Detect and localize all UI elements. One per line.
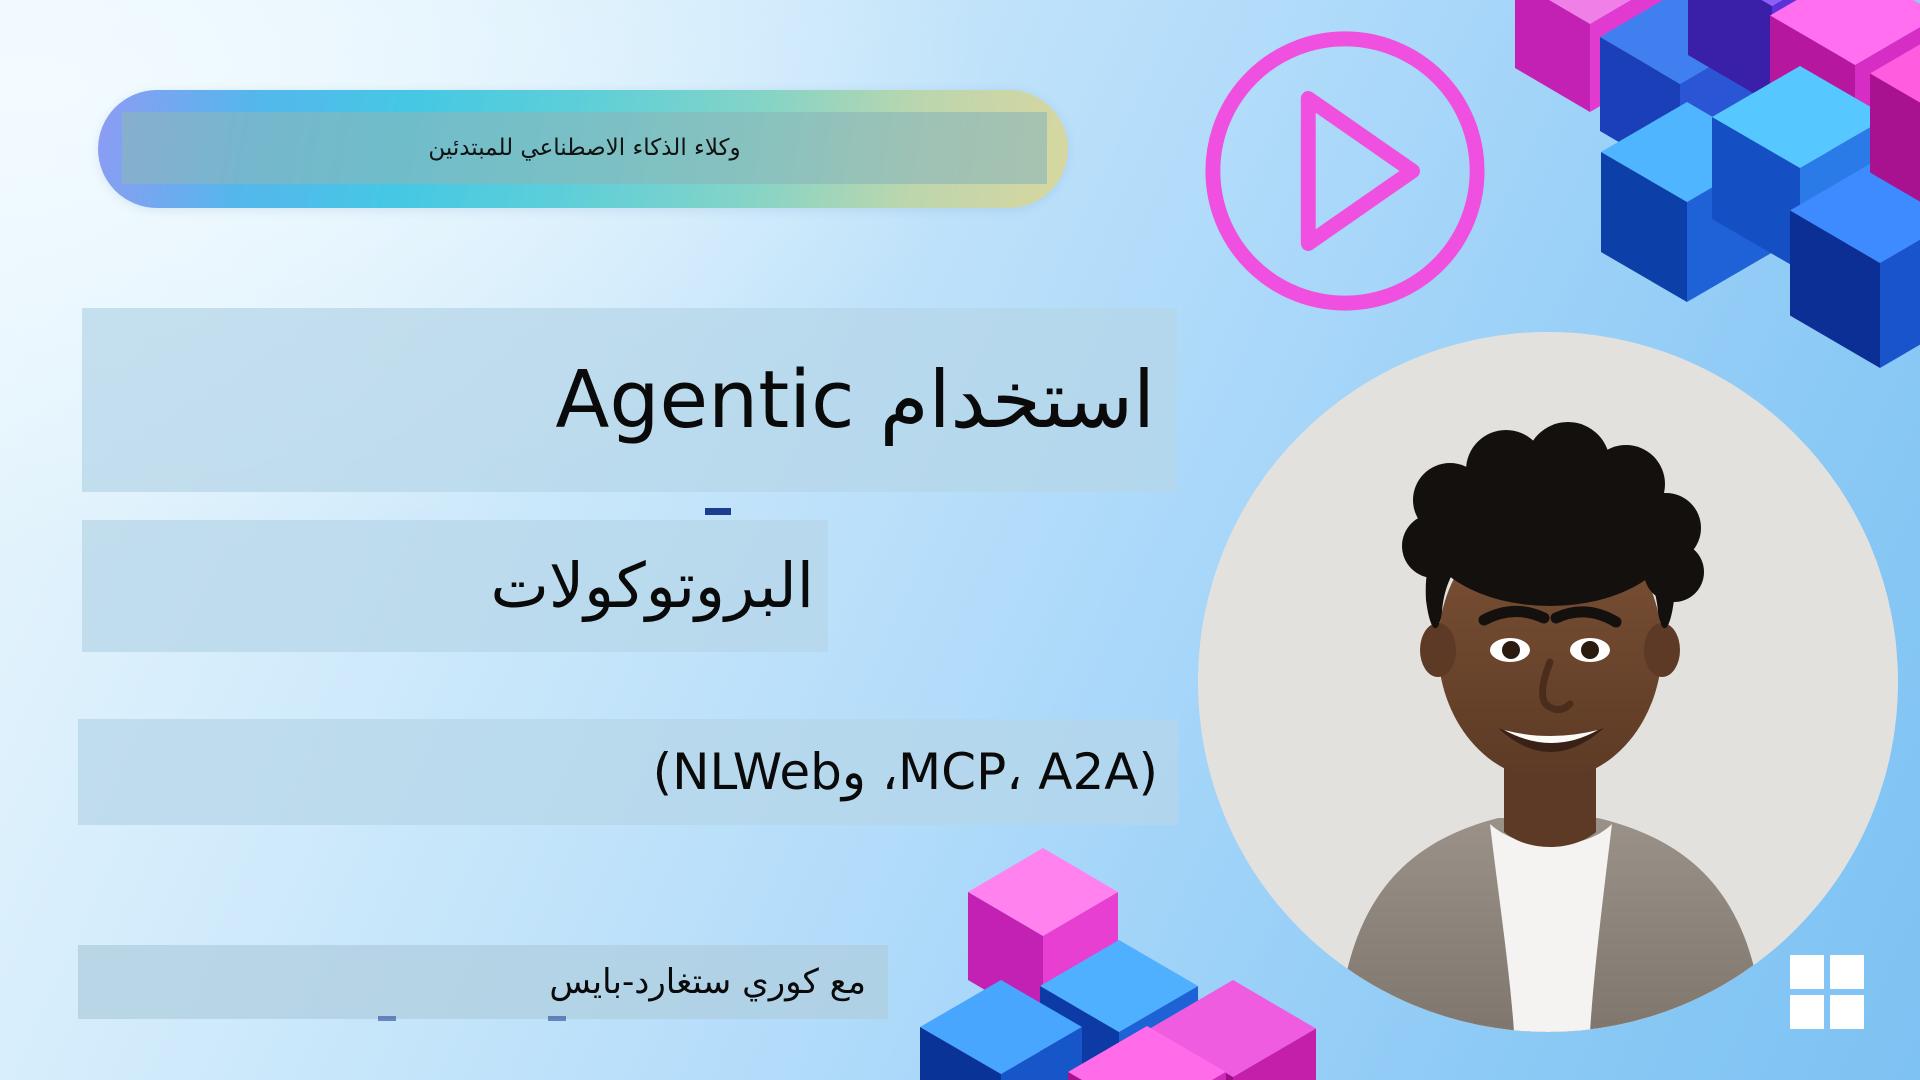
title-band-secondary: البروتوكولات: [82, 520, 828, 652]
dash-marker: [705, 508, 731, 515]
windows-logo-icon: [1790, 955, 1864, 1029]
eyebrow-band: وكلاء الذكاء الاصطناعي للمبتدئين: [122, 112, 1047, 184]
page-subtitle-arabic: البروتوكولات: [82, 553, 828, 618]
presenter-photo: [1198, 332, 1898, 1032]
cube-decoration: [1068, 1026, 1226, 1080]
underline-artifact: [378, 1016, 396, 1021]
subtitle-band: (MCP، A2A، وNLWeb): [78, 719, 1178, 825]
cube-decoration: [920, 980, 1082, 1080]
cube-decoration: [1870, 24, 1920, 222]
windows-pane: [1830, 955, 1864, 989]
windows-pane: [1790, 995, 1824, 1029]
windows-pane: [1830, 995, 1864, 1029]
page-title: استخدام Agentic: [72, 360, 1167, 441]
presenter-band: مع كوري ستغارد-بايس: [78, 945, 888, 1019]
title-band-primary: استخدام Agentic: [82, 308, 1177, 492]
eyebrow-label: وكلاء الذكاء الاصطناعي للمبتدئين: [428, 135, 740, 161]
play-circle-icon[interactable]: [1196, 22, 1494, 320]
underline-artifact: [548, 1016, 566, 1021]
presentation-slide: وكلاء الذكاء الاصطناعي للمبتدئين استخدام…: [0, 0, 1920, 1080]
protocols-label: (MCP، A2A، وNLWeb): [78, 743, 1178, 801]
presenter-label: مع كوري ستغارد-بايس: [78, 962, 888, 1002]
windows-pane: [1790, 955, 1824, 989]
